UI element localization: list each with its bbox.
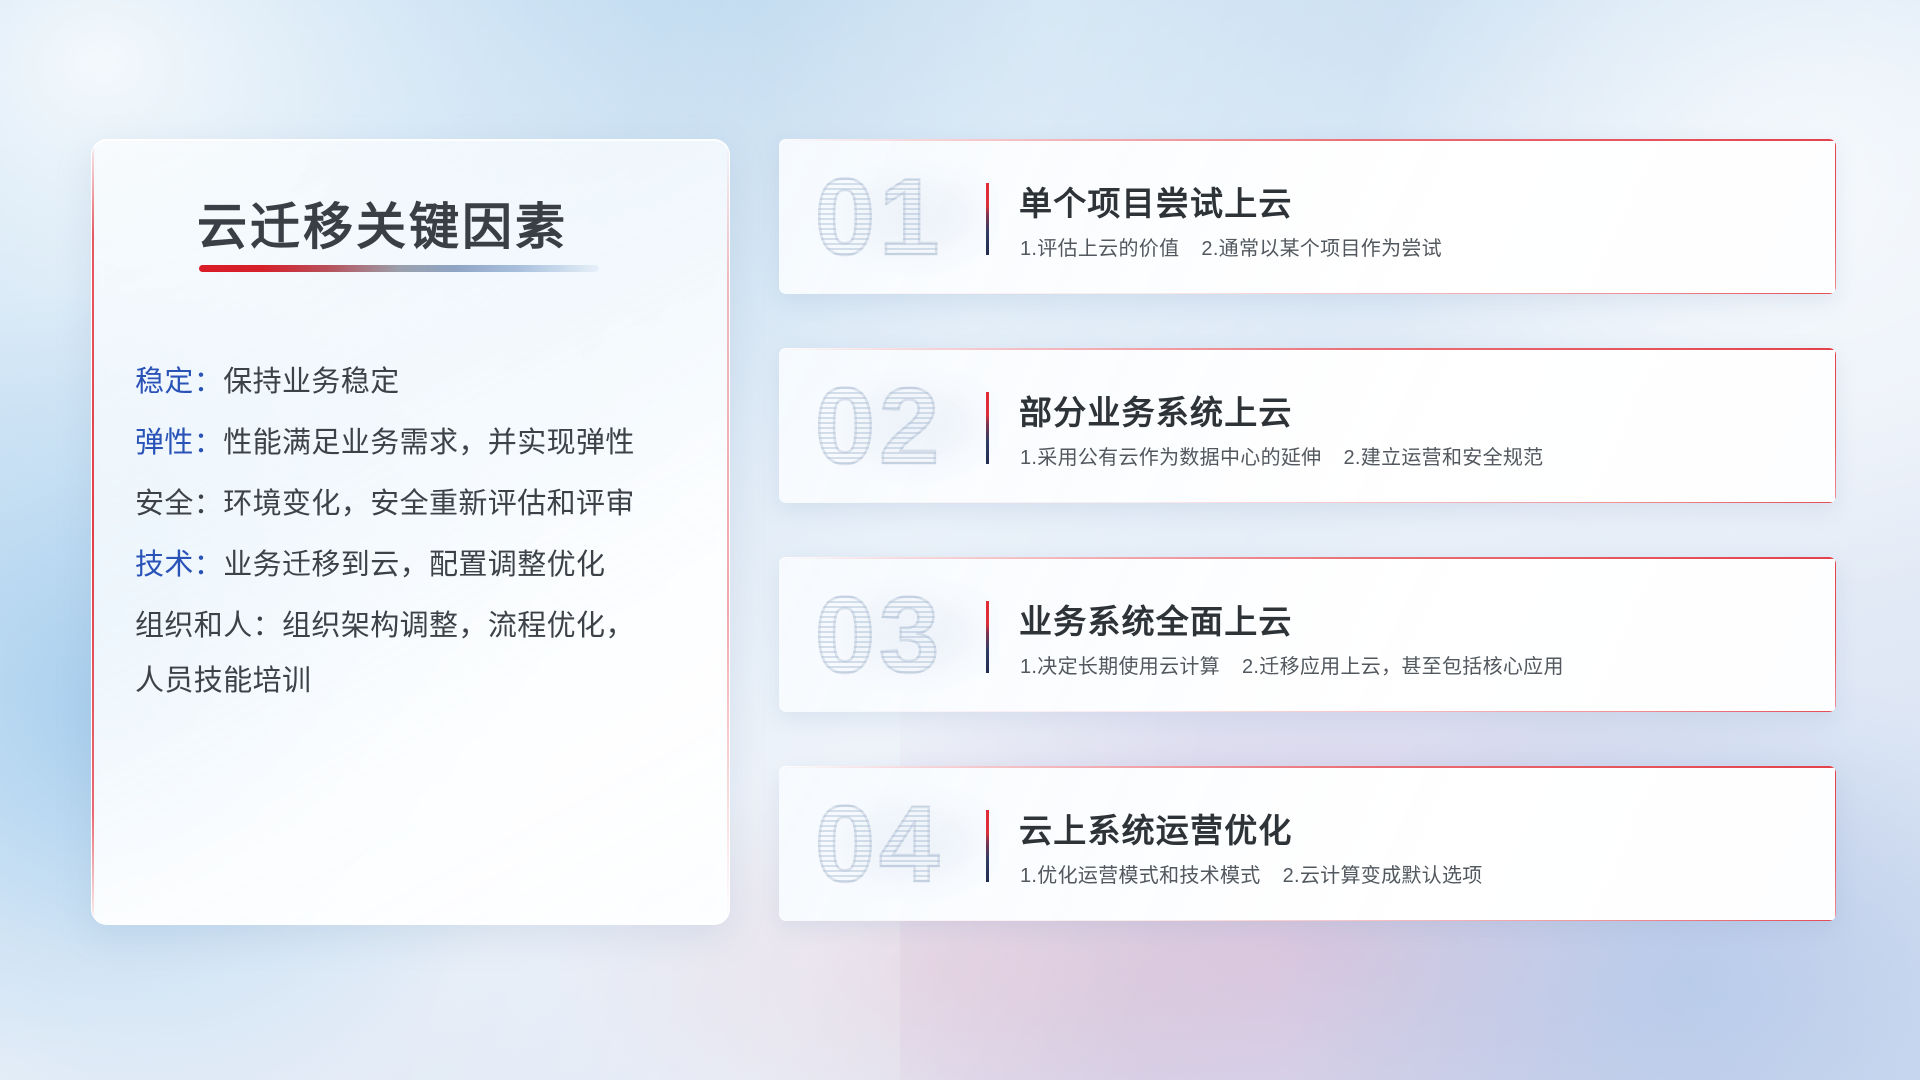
step-divider-accent [986, 810, 989, 882]
step-card-04[interactable]: 04 云上系统运营优化 1.优化运营模式和技术模式2.云计算变成默认选项 [779, 766, 1836, 921]
step-divider-accent [986, 183, 989, 255]
list-item-label: 技术： [135, 549, 223, 581]
step-description-part-1: 1.评估上云的价值 [1020, 238, 1179, 260]
step-description-part-1: 1.决定长期使用云计算 [1020, 656, 1220, 678]
card-bottom-accent [779, 920, 1836, 922]
list-item-text: 保持业务稳定 [223, 366, 399, 398]
step-divider-accent [986, 392, 989, 464]
key-factors-list: 稳定：保持业务稳定 弹性：性能满足业务需求，并实现弹性 安全：环境变化，安全重新… [135, 368, 705, 728]
step-description-part-1: 1.采用公有云作为数据中心的延伸 [1020, 447, 1321, 469]
step-description: 1.评估上云的价值2.通常以某个项目作为尝试 [1020, 232, 1442, 261]
list-item-label: 组织和人： [135, 610, 282, 642]
list-item: 技术：业务迁移到云，配置调整优化 [135, 551, 705, 580]
list-item-text: 性能满足业务需求，并实现弹性 [223, 427, 635, 459]
step-number: 02 [815, 372, 943, 480]
step-number: 04 [815, 790, 943, 898]
key-factors-panel: 云迁移关键因素 稳定：保持业务稳定 弹性：性能满足业务需求，并实现弹性 安全：环… [91, 139, 730, 925]
list-item-label: 弹性： [135, 427, 223, 459]
list-item-continuation: 人员技能培训 [135, 667, 705, 696]
step-description: 1.采用公有云作为数据中心的延伸2.建立运营和安全规范 [1020, 441, 1543, 470]
page-title: 云迁移关键因素 [197, 187, 568, 259]
list-item-text: 环境变化，安全重新评估和评审 [223, 488, 635, 520]
list-item: 稳定：保持业务稳定 [135, 368, 705, 397]
card-bottom-accent [779, 711, 1836, 713]
card-bottom-accent [779, 502, 1836, 504]
list-item-text: 人员技能培训 [135, 665, 311, 697]
step-description-part-2: 2.云计算变成默认选项 [1283, 865, 1483, 887]
list-item-label: 稳定： [135, 366, 223, 398]
step-title: 云上系统运营优化 [1019, 804, 1293, 852]
step-title: 业务系统全面上云 [1019, 595, 1293, 643]
step-divider-accent [986, 601, 989, 673]
step-description-part-2: 2.通常以某个项目作为尝试 [1201, 238, 1442, 260]
step-title: 部分业务系统上云 [1019, 386, 1293, 434]
step-description-part-2: 2.建立运营和安全规范 [1343, 447, 1543, 469]
list-item: 安全：环境变化，安全重新评估和评审 [135, 490, 705, 519]
step-card-02[interactable]: 02 部分业务系统上云 1.采用公有云作为数据中心的延伸2.建立运营和安全规范 [779, 348, 1836, 503]
step-description: 1.优化运营模式和技术模式2.云计算变成默认选项 [1020, 859, 1483, 888]
step-description: 1.决定长期使用云计算2.迁移应用上云，甚至包括核心应用 [1020, 650, 1564, 679]
card-bottom-accent [779, 293, 1836, 295]
step-card-01[interactable]: 01 单个项目尝试上云 1.评估上云的价值2.通常以某个项目作为尝试 [779, 139, 1836, 294]
migration-steps-list: 01 单个项目尝试上云 1.评估上云的价值2.通常以某个项目作为尝试 02 部分… [779, 139, 1836, 975]
step-number: 01 [815, 163, 943, 271]
step-number: 03 [815, 581, 943, 689]
step-card-03[interactable]: 03 业务系统全面上云 1.决定长期使用云计算2.迁移应用上云，甚至包括核心应用 [779, 557, 1836, 712]
list-item-text: 业务迁移到云，配置调整优化 [223, 549, 605, 581]
title-underline-accent [199, 265, 599, 272]
list-item: 弹性：性能满足业务需求，并实现弹性 [135, 429, 705, 458]
step-description-part-1: 1.优化运营模式和技术模式 [1020, 865, 1261, 887]
step-title: 单个项目尝试上云 [1019, 177, 1293, 225]
step-description-part-2: 2.迁移应用上云，甚至包括核心应用 [1242, 656, 1564, 678]
list-item: 组织和人：组织架构调整，流程优化， [135, 612, 705, 641]
list-item-text: 组织架构调整，流程优化， [282, 610, 635, 642]
list-item-label: 安全： [135, 488, 223, 520]
slide-canvas: 云迁移关键因素 稳定：保持业务稳定 弹性：性能满足业务需求，并实现弹性 安全：环… [0, 0, 1920, 1080]
